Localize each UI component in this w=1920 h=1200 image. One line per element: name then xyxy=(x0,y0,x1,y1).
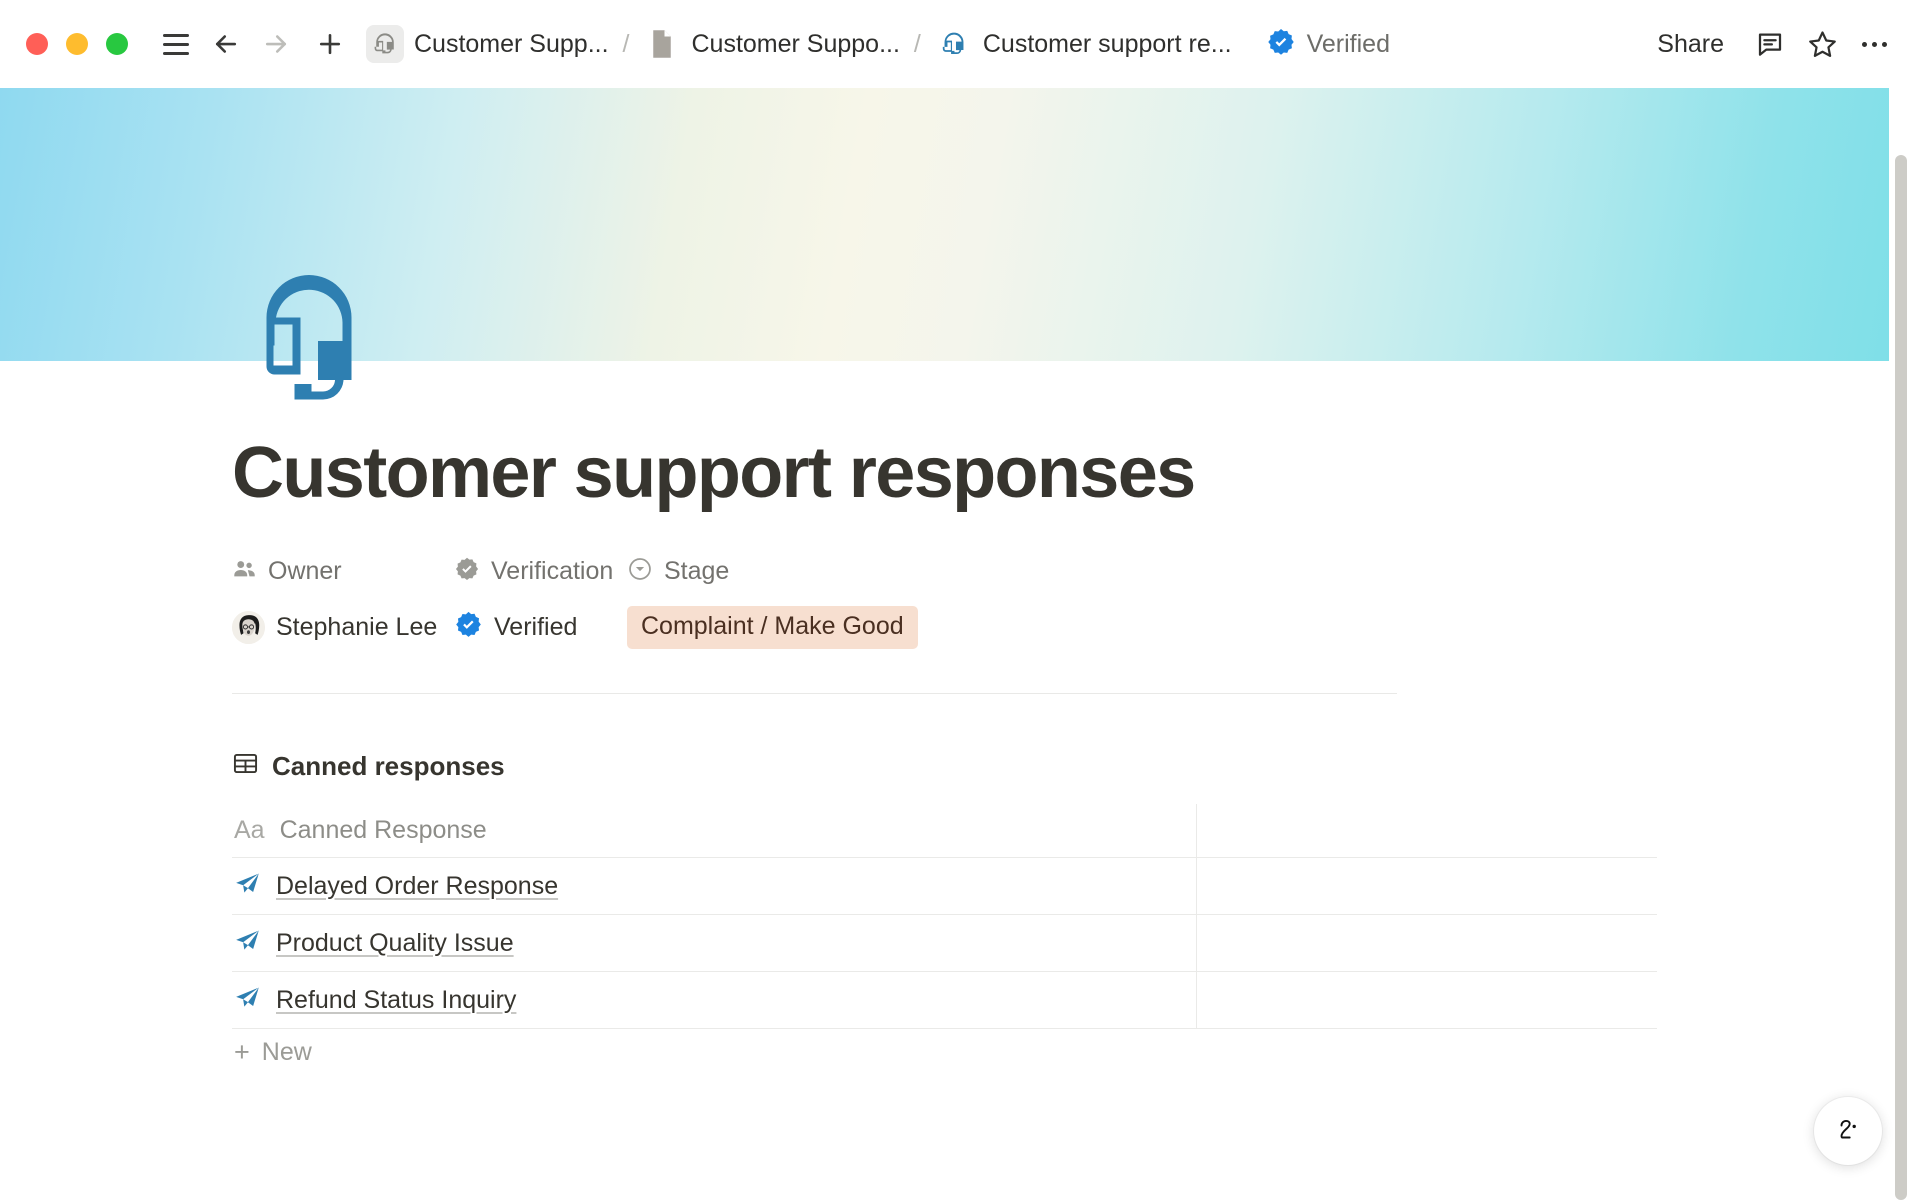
table-block-header[interactable]: Canned responses xyxy=(232,750,1662,782)
titlebar-actions: Share xyxy=(1641,22,1896,67)
minimize-window-button[interactable] xyxy=(66,33,88,55)
ai-sparkle-icon xyxy=(1831,1114,1865,1148)
breadcrumb-separator-1: / xyxy=(623,30,630,59)
property-owner-value[interactable]: Stephanie Lee xyxy=(232,611,454,644)
headset-icon xyxy=(366,25,404,63)
table-cell-name[interactable]: Refund Status Inquiry xyxy=(232,972,1197,1028)
property-labels-row: Owner Verification xyxy=(232,551,1662,591)
vertical-scrollbar[interactable] xyxy=(1895,155,1907,1200)
section-divider xyxy=(232,693,1397,694)
document-body: Customer support responses Owner xyxy=(0,361,1889,1075)
table-row[interactable]: Refund Status Inquiry xyxy=(232,972,1657,1029)
badge-check-icon xyxy=(1266,27,1296,62)
avatar xyxy=(232,611,265,644)
breadcrumb-label-3: Customer support re... xyxy=(983,30,1232,59)
table-header-row: Aa Canned Response xyxy=(232,804,1657,858)
table-row[interactable]: Product Quality Issue xyxy=(232,915,1657,972)
more-options-icon[interactable] xyxy=(1852,22,1896,66)
table-icon xyxy=(232,750,259,782)
table-row-link[interactable]: Product Quality Issue xyxy=(276,929,514,958)
share-button[interactable]: Share xyxy=(1641,22,1740,67)
document-icon xyxy=(643,25,681,63)
paper-plane-icon xyxy=(234,984,261,1016)
titlebar: Customer Supp... / Customer Suppo... / xyxy=(0,0,1920,88)
add-new-row-label: New xyxy=(262,1038,312,1067)
property-value-owner: Stephanie Lee xyxy=(276,613,437,642)
badge-check-icon xyxy=(454,610,483,644)
page-properties: Owner Verification xyxy=(232,551,1662,649)
verified-label: Verified xyxy=(1307,30,1390,59)
table-row-link[interactable]: Refund Status Inquiry xyxy=(276,986,516,1015)
badge-check-icon xyxy=(454,556,480,587)
property-label-stage: Stage xyxy=(664,557,729,586)
table-cell-secondary[interactable] xyxy=(1197,915,1657,971)
breadcrumb-item-1[interactable]: Customer Supp... xyxy=(366,25,609,63)
paper-plane-icon xyxy=(234,927,261,959)
canned-responses-block: Canned responses Aa Canned Response xyxy=(232,750,1662,1075)
window-controls xyxy=(26,33,128,55)
property-label-verification: Verification xyxy=(491,557,613,586)
column-header-label: Canned Response xyxy=(280,816,487,845)
app-window: Customer Supp... / Customer Suppo... / xyxy=(0,0,1920,1200)
property-verification-label[interactable]: Verification xyxy=(454,556,627,587)
plus-icon: + xyxy=(234,1039,250,1066)
table-cell-secondary[interactable] xyxy=(1197,972,1657,1028)
ai-assistant-button[interactable] xyxy=(1814,1097,1882,1165)
table-row-link[interactable]: Delayed Order Response xyxy=(276,872,558,901)
breadcrumb-separator-2: / xyxy=(914,30,921,59)
status-badge: Complaint / Make Good xyxy=(627,606,918,649)
table-cell-name[interactable]: Product Quality Issue xyxy=(232,915,1197,971)
property-values-row: Stephanie Lee Verified Complaint / Make xyxy=(232,605,1662,649)
table-row[interactable]: Delayed Order Response xyxy=(232,858,1657,915)
select-chevron-icon xyxy=(627,556,653,587)
text-type-icon: Aa xyxy=(234,816,265,845)
add-new-row-button[interactable]: + New xyxy=(232,1029,1657,1075)
property-stage-label[interactable]: Stage xyxy=(627,556,729,587)
breadcrumb-item-3[interactable]: Customer support re... xyxy=(935,25,1232,63)
people-icon xyxy=(232,556,257,586)
verified-status-badge[interactable]: Verified xyxy=(1266,27,1390,62)
back-arrow-icon[interactable] xyxy=(204,22,248,66)
close-window-button[interactable] xyxy=(26,33,48,55)
table-cell-secondary[interactable] xyxy=(1197,858,1657,914)
property-label-owner: Owner xyxy=(268,557,342,586)
maximize-window-button[interactable] xyxy=(106,33,128,55)
column-header-canned-response[interactable]: Aa Canned Response xyxy=(232,804,1197,857)
breadcrumb-item-2[interactable]: Customer Suppo... xyxy=(643,25,899,63)
table-cell-name[interactable]: Delayed Order Response xyxy=(232,858,1197,914)
breadcrumb-label-1: Customer Supp... xyxy=(414,30,609,59)
column-header-secondary[interactable] xyxy=(1197,804,1657,857)
comment-icon[interactable] xyxy=(1748,22,1792,66)
page-title[interactable]: Customer support responses xyxy=(232,434,1662,513)
table-block-title: Canned responses xyxy=(272,751,505,782)
headset-icon xyxy=(935,25,973,63)
forward-arrow-icon[interactable] xyxy=(254,22,298,66)
hamburger-menu-icon[interactable] xyxy=(154,22,198,66)
favorite-star-icon[interactable] xyxy=(1800,22,1844,66)
breadcrumb: Customer Supp... / Customer Suppo... / xyxy=(366,25,1232,63)
property-verification-value[interactable]: Verified xyxy=(454,610,627,644)
property-value-verification: Verified xyxy=(494,613,577,642)
property-owner-label[interactable]: Owner xyxy=(232,556,454,586)
new-page-plus-icon[interactable] xyxy=(308,22,352,66)
property-stage-value[interactable]: Complaint / Make Good xyxy=(627,606,918,649)
paper-plane-icon xyxy=(234,870,261,902)
breadcrumb-label-2: Customer Suppo... xyxy=(691,30,899,59)
canned-responses-table: Aa Canned Response xyxy=(232,804,1657,1075)
